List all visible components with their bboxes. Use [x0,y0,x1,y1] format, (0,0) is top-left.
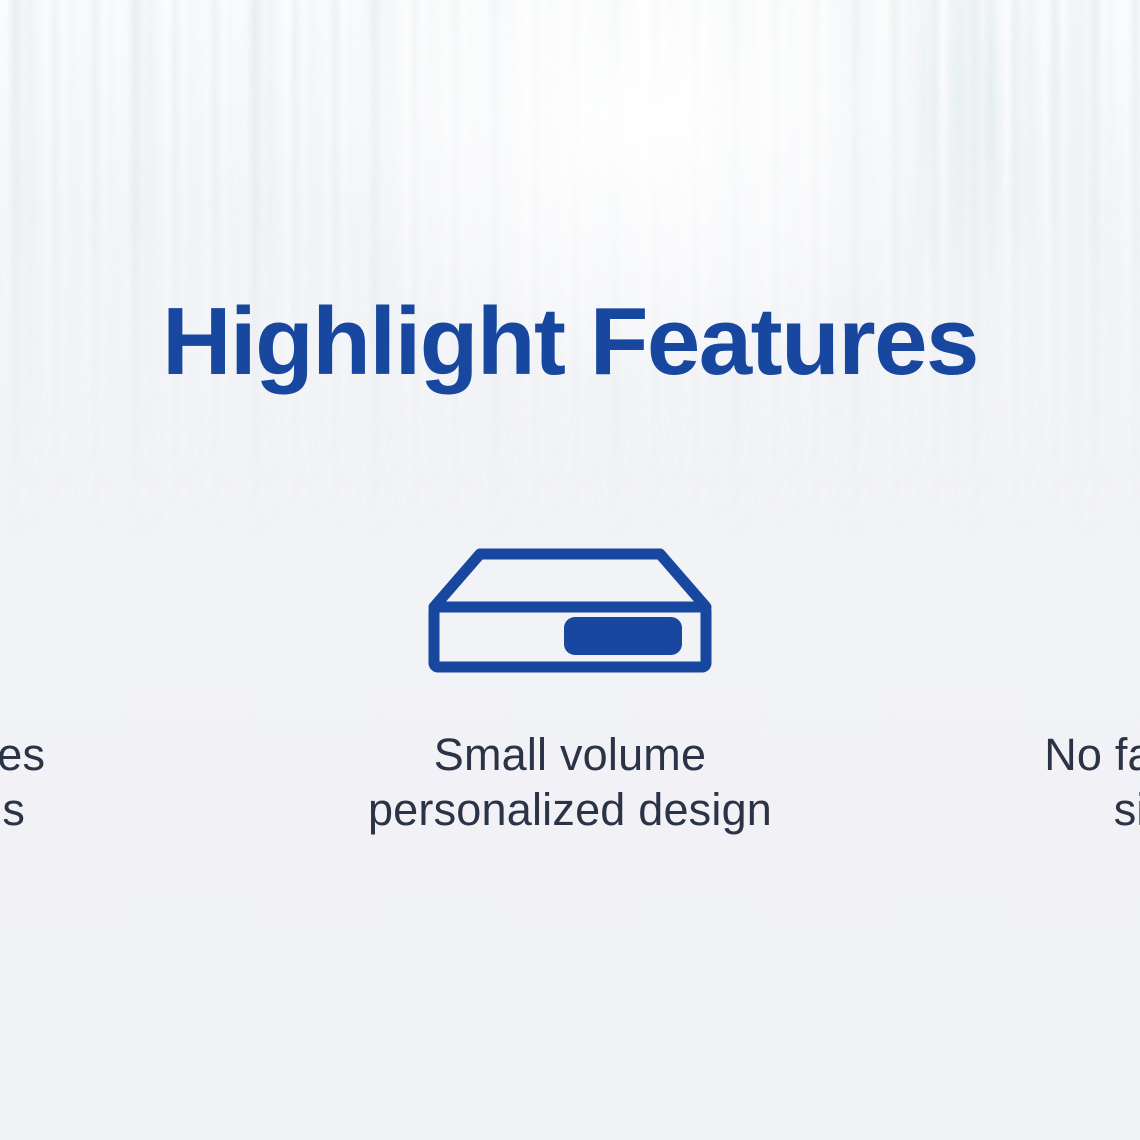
feature-caption-interfaces: Multiple interfaces rich applications [0,728,45,838]
feature-caption-line1: No fan, natural cooling, [1044,729,1140,780]
mini-pc-box-icon [425,520,715,700]
feature-item-interfaces: Multiple interfaces rich applications [0,520,216,838]
feature-caption-line2: personalized design [368,783,772,838]
feature-caption-fanless: No fan, natural cooling, silent and stab… [1044,728,1140,838]
feature-caption-line1: Small volume [434,729,707,780]
page-title: Highlight Features [0,292,1140,393]
feature-item-fanless: No fan, natural cooling, silent and stab… [924,520,1140,838]
feature-caption-line2: rich applications [0,783,45,838]
feature-caption-line2: silent and stable [1044,783,1140,838]
fanless-cooling-circle-icon [1128,520,1140,700]
feature-caption-small-volume: Small volume personalized design [368,728,772,838]
feature-item-small-volume: Small volume personalized design [216,520,924,838]
feature-caption-line1: Multiple interfaces [0,729,45,780]
chip-processor-icon [0,520,12,700]
highlight-features-slide: Highlight Features [0,0,1140,1140]
feature-row: Multiple interfaces rich applications Sm… [0,520,1140,838]
